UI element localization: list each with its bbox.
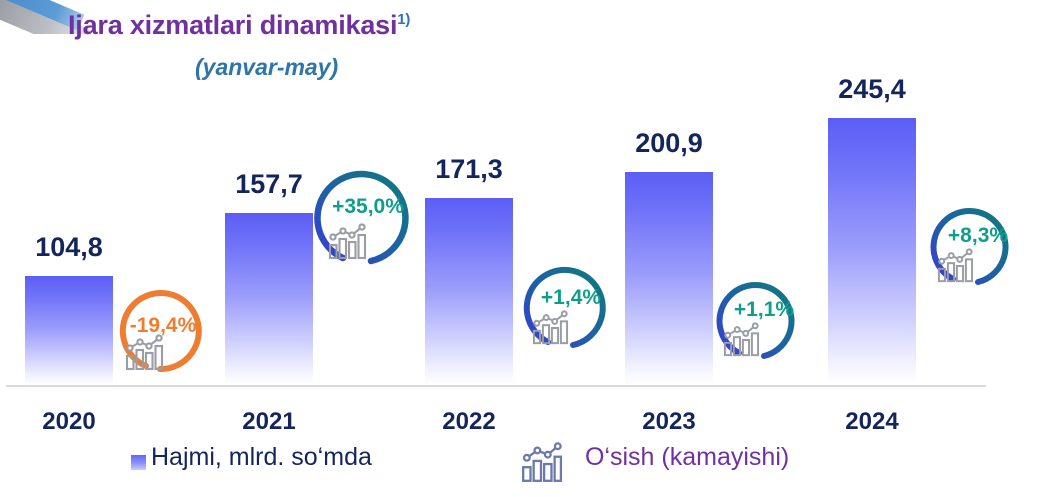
bar-chart-line-icon — [530, 310, 570, 346]
bar-value-2021: 157,7 — [214, 169, 324, 200]
bar-value-2022: 171,3 — [414, 154, 524, 185]
category-label-2021: 2021 — [214, 408, 324, 436]
bar-chart-line-icon — [326, 223, 368, 261]
bar-2020 — [25, 276, 113, 385]
legend-volume-swatch — [131, 455, 146, 470]
growth-bubble-2024: +8,3% — [928, 198, 1028, 298]
chart-canvas: Ijara xizmatlari dinamikasi1) (yanvar-ma… — [0, 0, 1049, 497]
bar-2024 — [828, 118, 916, 385]
legend-volume-label: Hajmi, mlrd. so‘mda — [151, 443, 372, 472]
growth-value-2022: +1,4% — [521, 286, 621, 310]
growth-value-2023: +1,1% — [714, 298, 814, 322]
bar-chart-line-icon — [935, 248, 975, 284]
legend-growth-label: O‘sish (kamayishi) — [585, 443, 789, 472]
growth-bubble-2023: +1,1% — [714, 272, 814, 372]
growth-bubble-2020: -19,4% — [113, 282, 213, 382]
category-label-2022: 2022 — [414, 408, 524, 436]
bar-2022 — [425, 198, 513, 385]
growth-bubble-2021: +35,0% — [313, 165, 423, 275]
bar-chart-line-icon — [721, 322, 761, 358]
bar-value-2020: 104,8 — [14, 232, 124, 263]
growth-value-2021: +35,0% — [313, 195, 423, 219]
growth-bubble-2022: +1,4% — [521, 258, 621, 358]
x-axis-line — [6, 385, 986, 387]
bar-value-2024: 245,4 — [817, 74, 927, 105]
bar-2023 — [625, 172, 713, 385]
bar-chart-line-icon — [519, 442, 563, 484]
bar-2021 — [225, 213, 313, 385]
bar-value-2023: 200,9 — [614, 128, 724, 159]
category-label-2023: 2023 — [614, 408, 724, 436]
category-label-2024: 2024 — [817, 408, 927, 436]
growth-value-2024: +8,3% — [928, 224, 1028, 248]
category-label-2020: 2020 — [14, 408, 124, 436]
plot-area: 104,8 157,7 171,3 200,9 245,4 2020 2021 … — [0, 0, 1049, 497]
bar-chart-line-icon — [123, 334, 165, 372]
